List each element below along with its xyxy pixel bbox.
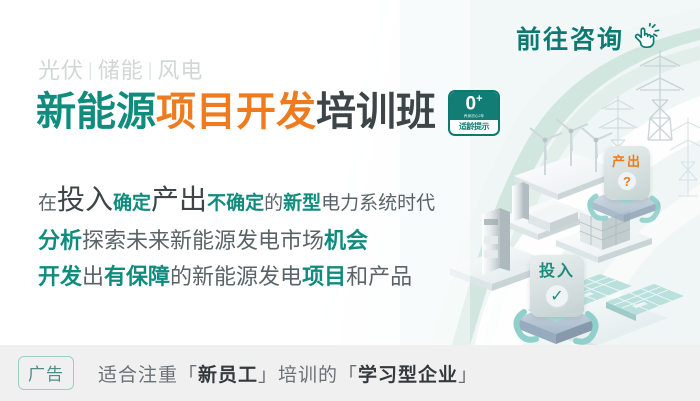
ad-footer-text: 适合注重「新员工」培训的「学习型企业」: [98, 360, 478, 387]
body-line-3-run-4: 项目: [302, 264, 346, 289]
consult-cta-label: 前往咨询: [516, 20, 624, 56]
body-line-1-run-3: 产出: [151, 184, 207, 215]
body-line-1-run-1: 投入: [57, 184, 113, 215]
page-title: 新能源项目开发培训班: [36, 92, 436, 132]
age-rating-top: 0+ 养身初心2年: [450, 92, 498, 120]
eyebrow-tag-0: 光伏: [38, 58, 84, 83]
footer-text-middle: 」培训的「: [258, 365, 358, 386]
output-sign-plate: 产出 ?: [604, 146, 650, 200]
output-sign: 产出 ?: [604, 146, 650, 200]
ad-footer-bar: 广告 适合注重「新员工」培训的「学习型企业」: [0, 345, 700, 401]
age-rating-value: 0+: [450, 94, 498, 114]
body-line-1-run-6: 新型: [283, 193, 321, 214]
input-sign: 投入 ✓: [530, 255, 584, 317]
headline-row: 新能源项目开发培训班 0+ 养身初心2年 适龄提示: [36, 88, 500, 136]
eyebrow-tags: 光伏|储能|风电: [38, 53, 203, 85]
body-copy: 在投入确定产出不确定的新型电力系统时代 分析探索未来新能源发电市场机会 开发出有…: [38, 186, 435, 288]
input-sign-plate: 投入 ✓: [530, 255, 584, 317]
body-line-1-run-5: 的: [264, 193, 283, 214]
age-rating-fine-print: 养身初心2年: [452, 114, 496, 118]
eyebrow-tag-2: 风电: [157, 58, 203, 83]
body-line-2-run-1: 探索未来新能源发电市场: [82, 228, 324, 253]
ad-tag-badge: 广告: [18, 356, 74, 390]
headline-part-orange: 项目开发: [156, 90, 316, 134]
body-line-2-run-2: 机会: [324, 228, 368, 253]
consult-cta-button[interactable]: 前往咨询: [516, 20, 660, 56]
body-line-2-run-0: 分析: [38, 228, 82, 253]
output-sign-label: 产出: [612, 155, 642, 168]
eyebrow-tag-1: 储能: [98, 58, 144, 83]
footer-text-after: 」: [458, 365, 478, 386]
click-hand-icon: [630, 23, 660, 53]
body-line-3-run-5: 和产品: [346, 264, 412, 289]
body-line-3-run-0: 开发: [38, 264, 82, 289]
body-line-1-run-4: 不确定: [207, 193, 264, 214]
body-line-3: 开发出有保障的新能源发电项目和产品: [38, 266, 435, 288]
input-sign-badge: ✓: [545, 284, 569, 308]
output-sign-badge: ?: [617, 171, 637, 191]
age-rating-plus: +: [476, 93, 482, 105]
headline-part-dark: 培训班: [316, 90, 436, 134]
eyebrow-separator-1: |: [144, 60, 158, 80]
body-line-1: 在投入确定产出不确定的新型电力系统时代: [38, 186, 435, 214]
age-rating-caption: 适龄提示: [450, 120, 498, 134]
footer-text-before: 适合注重「: [98, 365, 198, 386]
eyebrow-separator-0: |: [84, 60, 98, 80]
age-rating-badge: 0+ 养身初心2年 适龄提示: [448, 90, 500, 136]
footer-text-bold-2: 学习型企业: [358, 365, 458, 386]
body-line-3-run-2: 有保障: [104, 264, 170, 289]
headline-part-teal: 新能源: [36, 90, 156, 134]
body-line-1-run-0: 在: [38, 193, 57, 214]
body-line-3-run-3: 的新能源发电: [170, 264, 302, 289]
ad-banner[interactable]: 前往咨询 光伏|储能|风电 新能源项目开发培训班 0+ 养身初心2年 适龄提示 …: [0, 0, 700, 401]
input-sign-label: 投入: [539, 264, 575, 280]
footer-text-bold-1: 新员工: [198, 365, 258, 386]
body-line-2: 分析探索未来新能源发电市场机会: [38, 230, 435, 252]
body-line-1-run-7: 电力系统时代: [321, 193, 435, 214]
body-line-1-run-2: 确定: [113, 193, 151, 214]
body-line-3-run-1: 出: [82, 264, 104, 289]
age-rating-number: 0: [465, 93, 476, 114]
